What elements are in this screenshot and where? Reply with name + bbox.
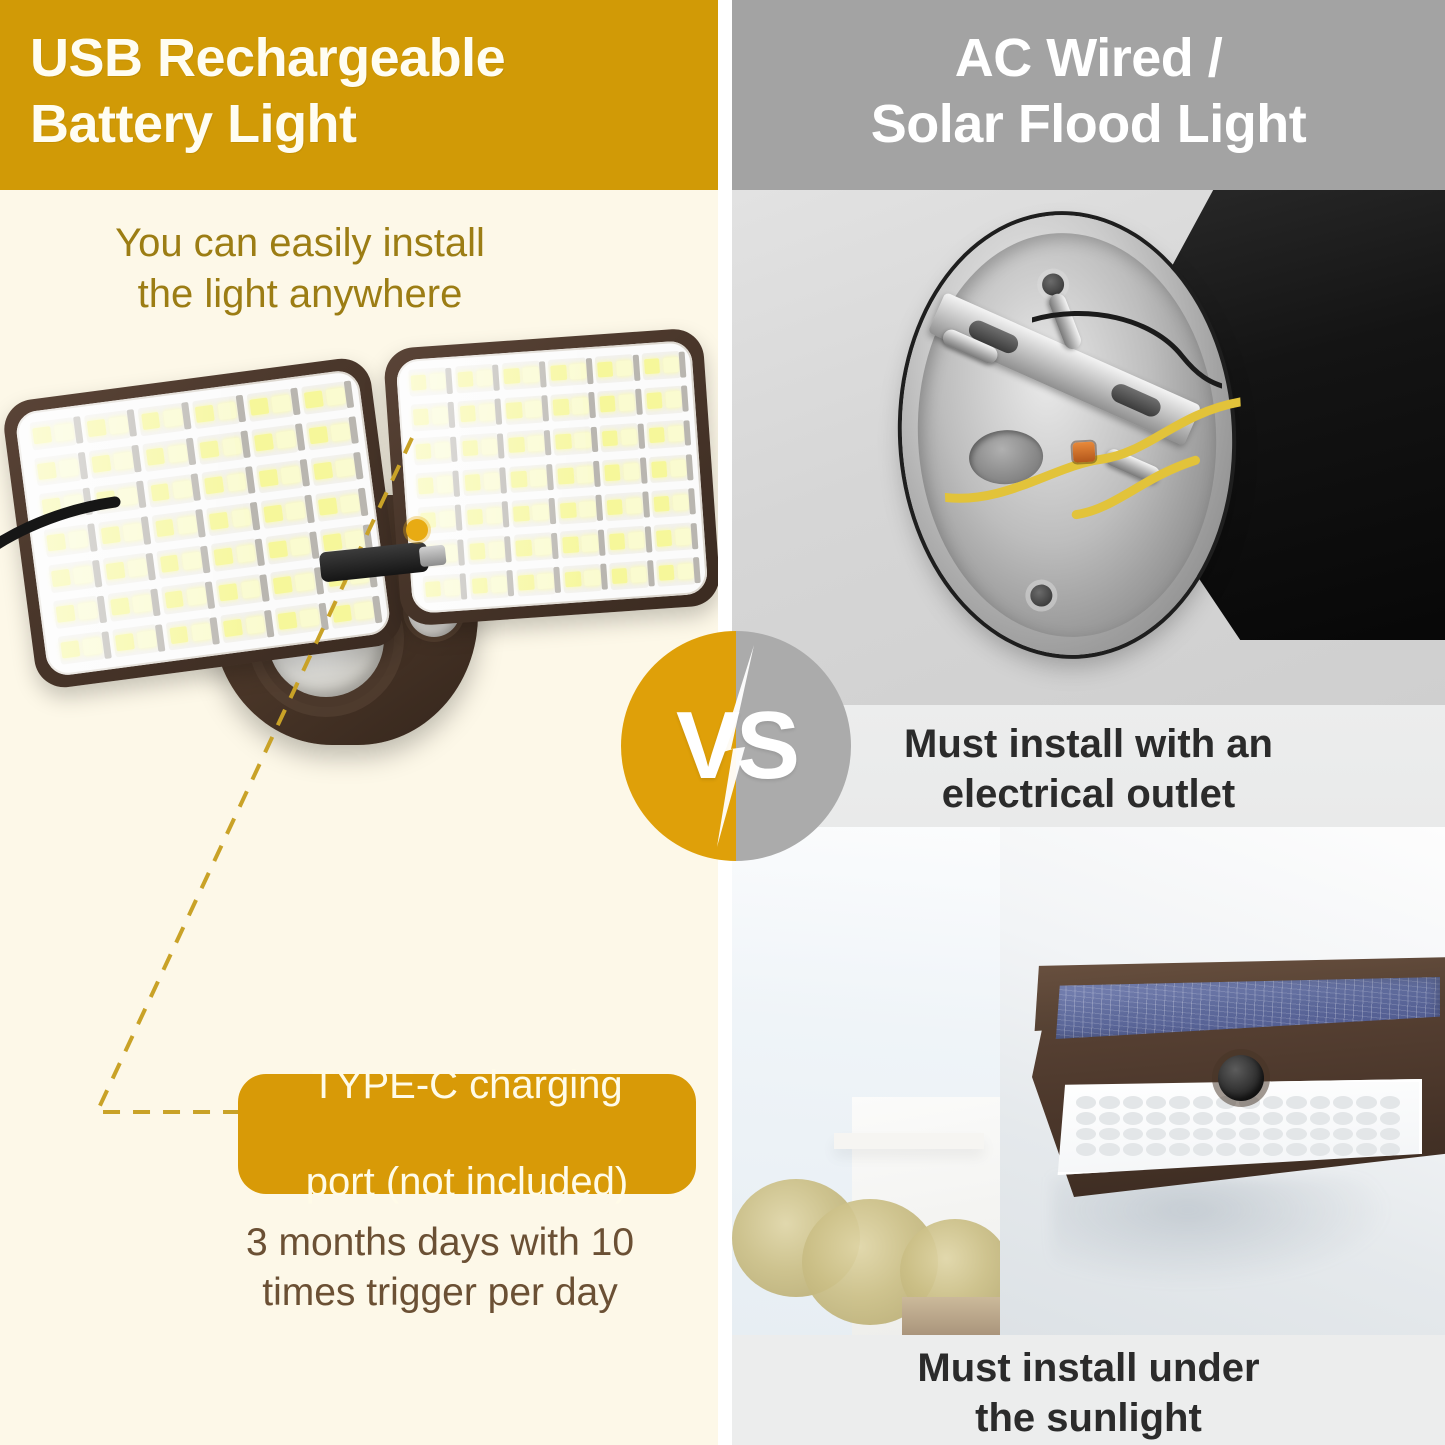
usb-c-port-dot-icon — [406, 519, 428, 541]
solar-led-dot — [1076, 1143, 1096, 1156]
right-header-title: AC Wired / Solar Flood Light — [732, 26, 1445, 158]
right-panel-header: AC Wired / Solar Flood Light — [732, 0, 1445, 190]
photo-electrical-junction-box — [732, 190, 1445, 705]
solar-led-dot — [1169, 1096, 1189, 1109]
left-subtitle-line2: the light anywhere — [0, 269, 600, 320]
right-caption-2: Must install under the sunlight — [732, 1343, 1445, 1444]
solar-led-dot — [1356, 1112, 1376, 1125]
left-header-title-line1: USB Rechargeable — [30, 26, 690, 92]
solar-led-dot — [1099, 1096, 1119, 1109]
solar-led-dot — [1169, 1143, 1189, 1156]
comparison-infographic: USB Rechargeable Battery Light You can e… — [0, 0, 1445, 1445]
solar-led-dot — [1123, 1112, 1143, 1125]
black-wire — [1032, 310, 1222, 390]
solar-led-dot — [1263, 1096, 1283, 1109]
solar-led-dot — [1286, 1143, 1306, 1156]
right-caption-2-line1: Must install under — [732, 1343, 1445, 1393]
solar-led-dot — [1380, 1112, 1400, 1125]
solar-led-dot — [1333, 1112, 1353, 1125]
solar-led-dot — [1146, 1143, 1166, 1156]
solar-led-dot — [1333, 1143, 1353, 1156]
solar-led-dot — [1310, 1096, 1330, 1109]
solar-led-dot — [1310, 1112, 1330, 1125]
left-header-title: USB Rechargeable Battery Light — [30, 26, 690, 158]
usb-charging-cable — [0, 370, 130, 840]
solar-led-dot — [1380, 1143, 1400, 1156]
solar-led-dot — [1146, 1128, 1166, 1141]
solar-led-dot — [1333, 1128, 1353, 1141]
solar-led-dot — [1356, 1128, 1376, 1141]
left-subtitle-line1: You can easily install — [0, 218, 600, 269]
pir-motion-sensor-icon — [1218, 1055, 1264, 1101]
solar-led-dot — [1099, 1128, 1119, 1141]
left-panel-header: USB Rechargeable Battery Light — [0, 0, 718, 190]
solar-led-dot — [1169, 1128, 1189, 1141]
solar-led-dot — [1123, 1143, 1143, 1156]
solar-led-dot — [1193, 1143, 1213, 1156]
solar-led-dot — [1380, 1096, 1400, 1109]
solar-led-dot — [1239, 1112, 1259, 1125]
yellow-electrical-wire — [941, 396, 1247, 542]
solar-lamp-led-dots — [1076, 1096, 1400, 1156]
solar-led-dot — [1216, 1128, 1236, 1141]
badge-line2: port (not included) — [292, 1158, 642, 1207]
solar-led-dot — [1169, 1112, 1189, 1125]
badge-line1: TYPE-C charging — [292, 1061, 642, 1110]
vs-badge: VS — [621, 631, 851, 861]
solar-led-dot — [1099, 1143, 1119, 1156]
solar-led-dot — [1076, 1128, 1096, 1141]
solar-wall-light — [1032, 937, 1445, 1237]
solar-led-dot — [1193, 1112, 1213, 1125]
solar-led-dot — [1123, 1128, 1143, 1141]
left-footnote: 3 months days with 10 times trigger per … — [160, 1218, 718, 1318]
solar-led-dot — [1239, 1128, 1259, 1141]
planter — [902, 1297, 1012, 1335]
solar-led-dot — [1286, 1128, 1306, 1141]
left-panel-usb-rechargeable: USB Rechargeable Battery Light You can e… — [0, 0, 718, 1445]
solar-led-dot — [1076, 1096, 1096, 1109]
solar-led-dot — [1216, 1143, 1236, 1156]
solar-led-dot — [1310, 1128, 1330, 1141]
solar-led-dot — [1310, 1143, 1330, 1156]
solar-led-dot — [1099, 1112, 1119, 1125]
solar-led-dot — [1286, 1096, 1306, 1109]
solar-led-dot — [1216, 1112, 1236, 1125]
left-subtitle: You can easily install the light anywher… — [0, 218, 600, 320]
solar-led-dot — [1356, 1143, 1376, 1156]
solar-led-dot — [1380, 1128, 1400, 1141]
solar-led-dot — [1333, 1096, 1353, 1109]
solar-led-dot — [1286, 1112, 1306, 1125]
badge-text: TYPE-C charging port (not included) — [278, 1061, 656, 1207]
solar-led-dot — [1193, 1128, 1213, 1141]
solar-led-dot — [1263, 1112, 1283, 1125]
left-footnote-line1: 3 months days with 10 — [160, 1218, 718, 1268]
solar-led-dot — [1193, 1096, 1213, 1109]
right-caption-band-bottom: Must install under the sunlight — [732, 1335, 1445, 1445]
wire-connector — [1072, 442, 1095, 463]
left-footnote-line2: times trigger per day — [160, 1268, 718, 1318]
solar-led-dot — [1356, 1096, 1376, 1109]
lightning-bolt-icon — [621, 631, 851, 861]
photo-solar-wall-light — [732, 827, 1445, 1335]
right-header-title-line1: AC Wired / — [732, 26, 1445, 92]
solar-led-dot — [1146, 1096, 1166, 1109]
solar-led-dot — [1146, 1112, 1166, 1125]
solar-led-dot — [1263, 1128, 1283, 1141]
solar-led-dot — [1123, 1096, 1143, 1109]
left-header-title-line2: Battery Light — [30, 92, 690, 158]
solar-led-dot — [1263, 1143, 1283, 1156]
right-caption-2-line2: the sunlight — [732, 1393, 1445, 1443]
type-c-charging-port-badge: TYPE-C charging port (not included) — [238, 1074, 696, 1194]
solar-led-dot — [1239, 1143, 1259, 1156]
right-header-title-line2: Solar Flood Light — [732, 92, 1445, 158]
solar-led-dot — [1076, 1112, 1096, 1125]
